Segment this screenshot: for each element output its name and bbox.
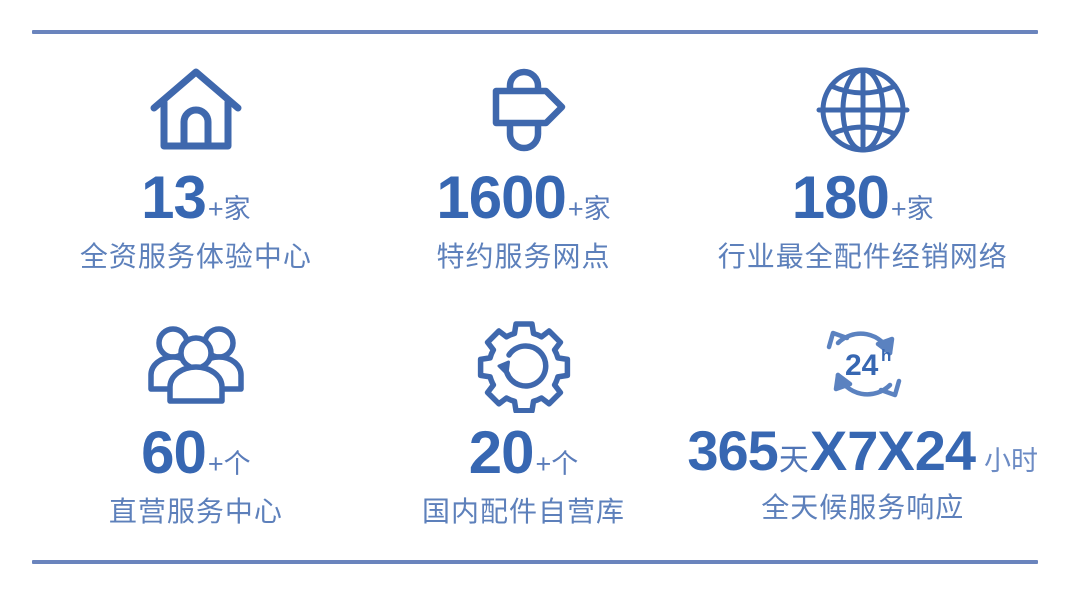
stat-caption: 直营服务中心 xyxy=(109,497,283,528)
people-group-icon xyxy=(141,313,251,417)
24h-cycle-icon: 24 h xyxy=(805,313,921,417)
stat-number: 20 xyxy=(469,423,534,483)
stat-cell-authorized-service-outlets: 1600 + 家 特约服务网点 xyxy=(360,46,688,291)
stat-number: 60 xyxy=(141,423,206,483)
24h-icon-superscript: h xyxy=(881,346,891,365)
stat-number-days-per-year: 365 xyxy=(687,423,777,479)
stat-plus-sign: + xyxy=(891,196,907,223)
infographic-board: 13 + 家 全资服务体验中心 1600 + 家 特约服务网点 xyxy=(0,0,1080,594)
stat-plus-sign: + xyxy=(536,451,552,478)
top-divider xyxy=(32,30,1038,34)
multiply-sign-2: X xyxy=(877,423,914,479)
stat-cell-round-the-clock-response: 24 h 365 天 X 7 X 24 小时 全天候服务响应 xyxy=(687,301,1038,546)
stat-value-line: 60 + 个 xyxy=(141,423,251,483)
stat-caption: 特约服务网点 xyxy=(437,242,611,273)
stat-value-line: 180 + 家 xyxy=(792,168,934,228)
stat-unit: 个 xyxy=(224,451,251,478)
stat-unit-days: 天 xyxy=(778,446,810,476)
house-icon xyxy=(144,58,248,162)
bottom-divider xyxy=(32,560,1038,564)
stat-plus-sign: + xyxy=(208,196,224,223)
stat-plus-sign: + xyxy=(568,196,584,223)
stat-number-hours-per-day: 24 xyxy=(915,423,975,479)
stat-value-line: 365 天 X 7 X 24 小时 xyxy=(687,423,1038,479)
stat-number: 180 xyxy=(792,168,889,228)
stat-plus-sign: + xyxy=(208,451,224,478)
stat-cell-direct-service-centers: 60 + 个 直营服务中心 xyxy=(32,301,360,546)
stat-value-line: 13 + 家 xyxy=(141,168,251,228)
gear-refresh-icon xyxy=(472,313,576,417)
stat-number: 13 xyxy=(141,168,206,228)
stat-cell-parts-distribution-network: 180 + 家 行业最全配件经销网络 xyxy=(687,46,1038,291)
stat-unit: 个 xyxy=(551,451,578,478)
stat-unit: 家 xyxy=(224,196,251,223)
stat-caption: 全天候服务响应 xyxy=(761,493,964,524)
stat-value-line: 1600 + 家 xyxy=(436,168,610,228)
stat-unit-hours: 小时 xyxy=(984,448,1038,475)
multiply-sign-1: X xyxy=(810,423,847,479)
24h-icon-number: 24 xyxy=(845,349,879,382)
stat-cell-service-experience-centers: 13 + 家 全资服务体验中心 xyxy=(32,46,360,291)
signpost-icon xyxy=(472,58,576,162)
stats-grid: 13 + 家 全资服务体验中心 1600 + 家 特约服务网点 xyxy=(32,46,1038,546)
stat-value-line: 20 + 个 xyxy=(469,423,579,483)
globe-icon xyxy=(811,58,915,162)
stat-unit: 家 xyxy=(584,196,611,223)
stat-caption: 行业最全配件经销网络 xyxy=(718,242,1008,273)
stat-cell-domestic-parts-warehouses: 20 + 个 国内配件自营库 xyxy=(360,301,688,546)
stat-caption: 国内配件自营库 xyxy=(422,497,625,528)
stat-number-days-per-week: 7 xyxy=(847,423,877,479)
stat-caption: 全资服务体验中心 xyxy=(80,242,312,273)
stat-number: 1600 xyxy=(436,168,565,228)
stat-unit: 家 xyxy=(907,196,934,223)
